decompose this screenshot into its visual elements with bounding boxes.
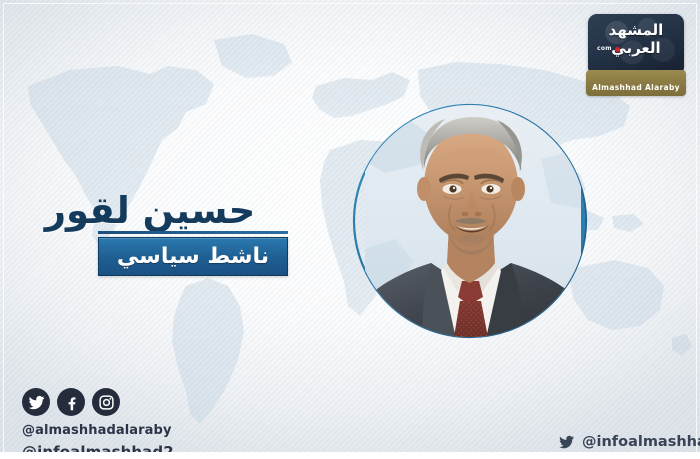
logo-red-dot-icon	[615, 47, 620, 52]
social-media-guest-card: حسين لقور ناشط سياسي المشهد العربي com A…	[0, 0, 700, 459]
logo-subtitle-tab: Almashhad Alaraby	[586, 70, 686, 96]
footer-twitter-handle-group[interactable]: @infoalmashhad2	[557, 434, 700, 450]
logo-subtitle: Almashhad Alaraby	[586, 83, 686, 92]
social-handle-primary[interactable]: @almashhadalaraby	[22, 422, 174, 440]
brand-logo[interactable]: المشهد العربي com Almashhad Alaraby	[586, 14, 686, 98]
role-badge: ناشط سياسي	[98, 237, 288, 276]
portrait-photo-clip	[365, 99, 581, 343]
logo-box: المشهد العربي com	[588, 14, 684, 76]
logo-com-label: com	[597, 45, 612, 52]
portrait-photo	[365, 99, 581, 343]
instagram-icon[interactable]	[92, 388, 120, 416]
facebook-icon[interactable]	[57, 388, 85, 416]
twitter-icon[interactable]	[22, 388, 50, 416]
logo-arabic-line-1: المشهد	[588, 23, 684, 38]
twitter-bird-icon	[557, 434, 576, 450]
footer-twitter-handle: @infoalmashhad2	[582, 434, 700, 450]
role-badge-label: ناشط سياسي	[117, 245, 269, 269]
name-underline	[98, 231, 288, 234]
social-icon-row	[22, 388, 174, 416]
social-block: @almashhadalaraby @infoalmashhad2	[22, 388, 174, 459]
portrait-container	[341, 97, 599, 345]
bottom-white-strip	[0, 452, 700, 459]
person-name: حسين لقور	[0, 188, 300, 234]
